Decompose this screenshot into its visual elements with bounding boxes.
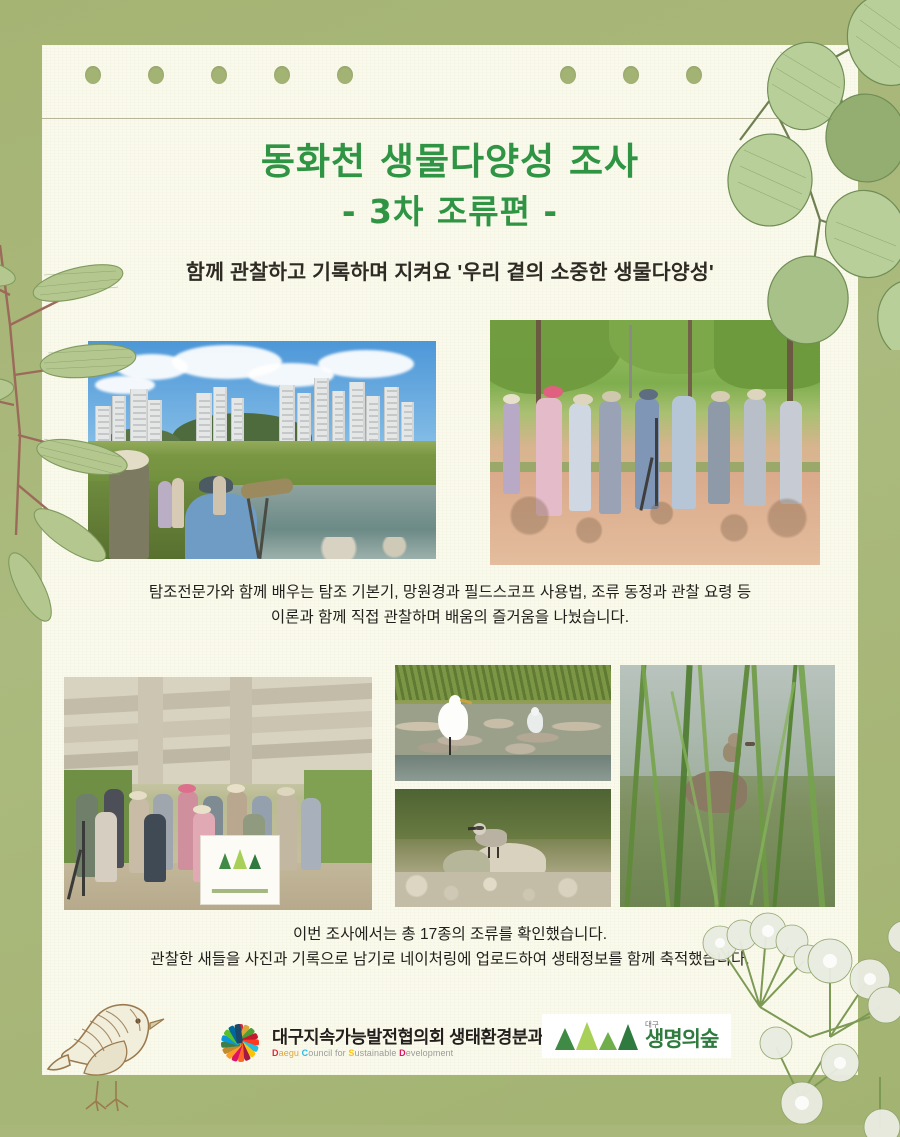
logo-daegu-council: 대구지속가능발전협의회 생태환경분과 Daegu Council for Sus… xyxy=(217,1020,543,1066)
punch-hole xyxy=(211,66,227,84)
photo-group-bridge xyxy=(64,677,372,910)
bird-engraving-bottom-left-icon xyxy=(46,985,196,1117)
sdg-color-wheel-icon xyxy=(217,1020,263,1066)
punch-hole xyxy=(148,66,164,84)
council-name-ko: 대구지속가능발전협의회 생태환경분과 xyxy=(272,1027,543,1047)
caption-middle-line2: 이론과 함께 직접 관찰하며 배움의 즐거움을 나눴습니다. xyxy=(0,605,900,630)
poster-canvas: 동화천 생물다양성 조사 - 3차 조류편 - 함께 관찰하고 기록하며 지켜요… xyxy=(0,0,900,1125)
header-divider xyxy=(42,118,858,119)
punch-hole xyxy=(274,66,290,84)
council-name-en: Daegu Council for Sustainable Developmen… xyxy=(272,1047,543,1059)
page-title: 동화천 생물다양성 조사 xyxy=(0,140,900,184)
punch-hole xyxy=(560,66,576,84)
photo-bird-sandpiper xyxy=(395,789,611,907)
title-block: 동화천 생물다양성 조사 - 3차 조류편 - xyxy=(0,140,900,236)
caption-bottom-line2: 관찰한 새들을 사진과 기록으로 남기로 네이처링에 업로드하여 생태정보를 함… xyxy=(0,947,900,972)
caption-bottom-line1: 이번 조사에서는 총 17종의 조류를 확인했습니다. xyxy=(0,922,900,947)
page-subtitle: - 3차 조류편 - xyxy=(0,188,900,236)
photo-group-binocular xyxy=(490,320,820,565)
punch-hole xyxy=(623,66,639,84)
photo-survey-river xyxy=(88,341,436,559)
punch-hole xyxy=(337,66,353,84)
caption-bottom: 이번 조사에서는 총 17종의 조류를 확인했습니다. 관찰한 새들을 사진과 … xyxy=(0,922,900,972)
logo-saengmyeong-forest: 대구 생명의숲 xyxy=(542,1014,731,1058)
caption-middle-line1: 탐조전문가와 함께 배우는 탐조 기본기, 망원경과 필드스코프 사용법, 조류… xyxy=(0,580,900,605)
forest-name: 생명의숲 xyxy=(645,1029,718,1051)
forest-trees-icon xyxy=(555,1022,638,1050)
caption-middle: 탐조전문가와 함께 배우는 탐조 기본기, 망원경과 필드스코프 사용법, 조류… xyxy=(0,580,900,630)
tagline: 함께 관찰하고 기록하며 지켜요 '우리 곁의 소중한 생물다양성' xyxy=(0,255,900,285)
punch-hole xyxy=(686,66,702,84)
photo-bird-egret xyxy=(395,665,611,781)
photo-bird-duck xyxy=(620,665,835,907)
punch-hole xyxy=(85,66,101,84)
